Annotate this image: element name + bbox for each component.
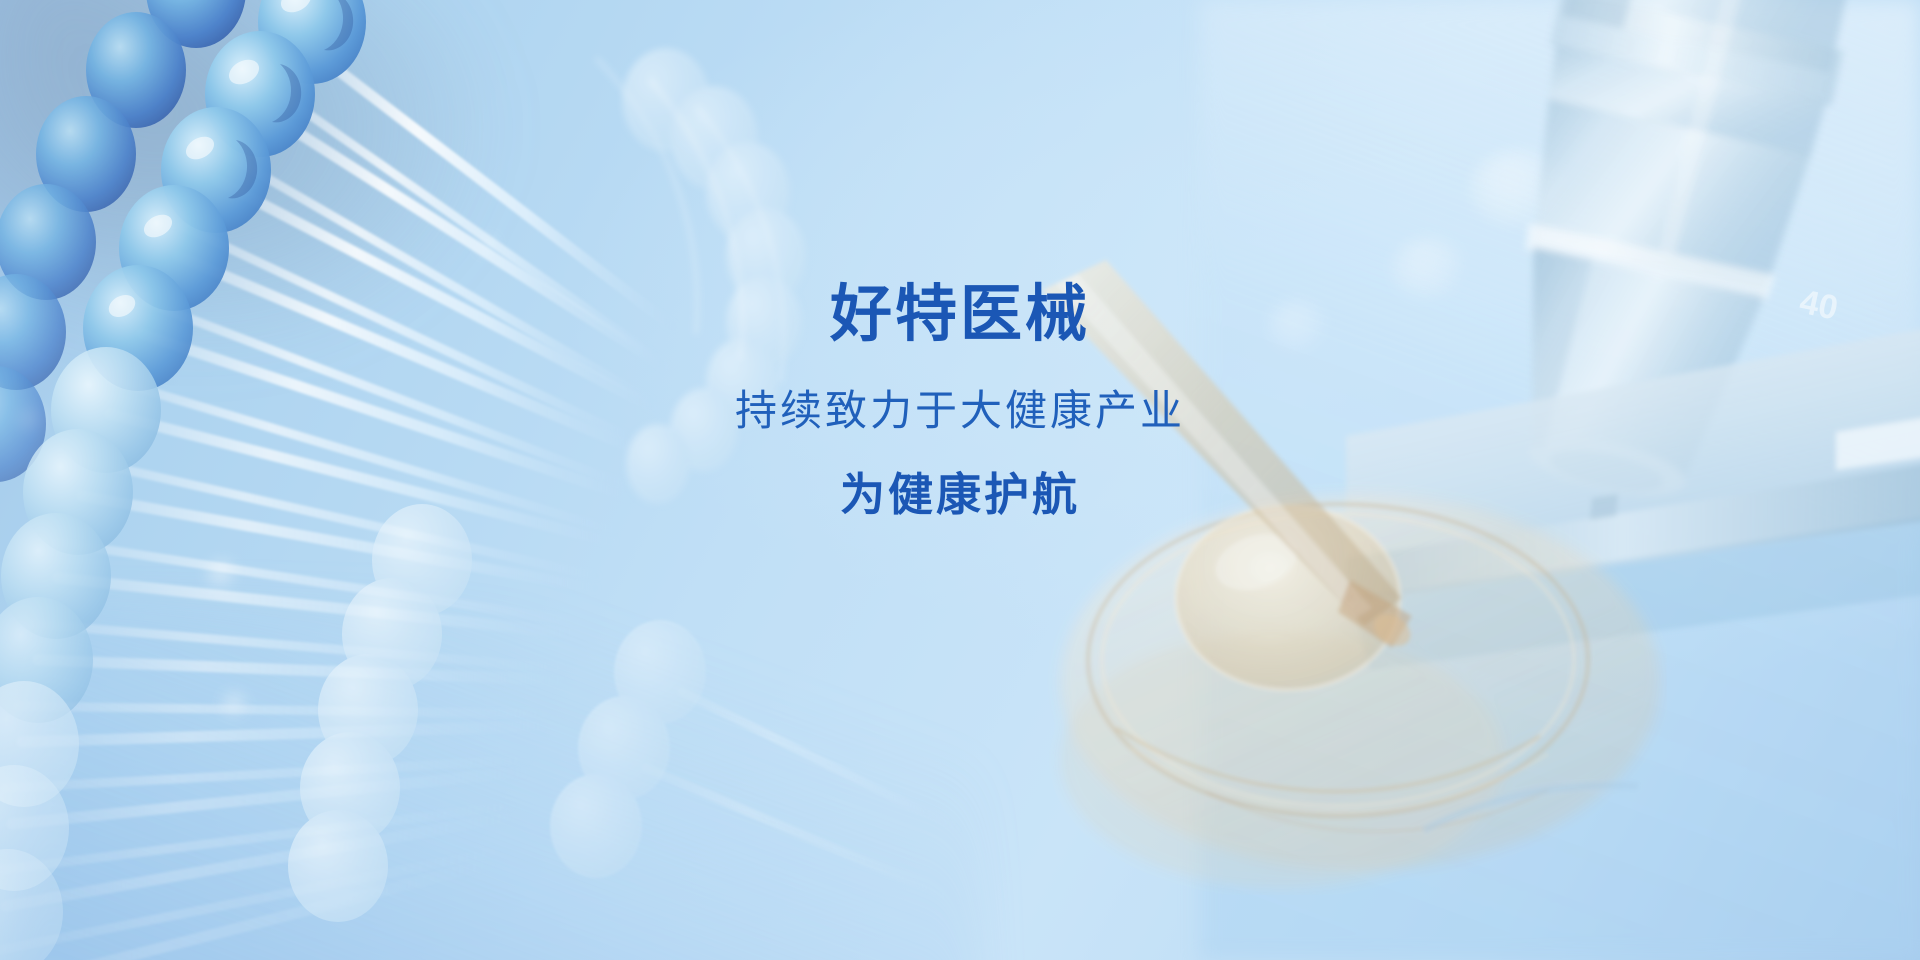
hero-banner: 40 xyxy=(0,0,1920,960)
page-title: 好特医械 xyxy=(0,282,1920,349)
background-sheen-bottom-left xyxy=(0,600,980,960)
page-subtitle: 持续致力于大健康产业 xyxy=(0,387,1920,434)
headline-block: 好特医械 持续致力于大健康产业 为健康护航 xyxy=(0,282,1920,519)
page-slogan: 为健康护航 xyxy=(0,470,1920,520)
